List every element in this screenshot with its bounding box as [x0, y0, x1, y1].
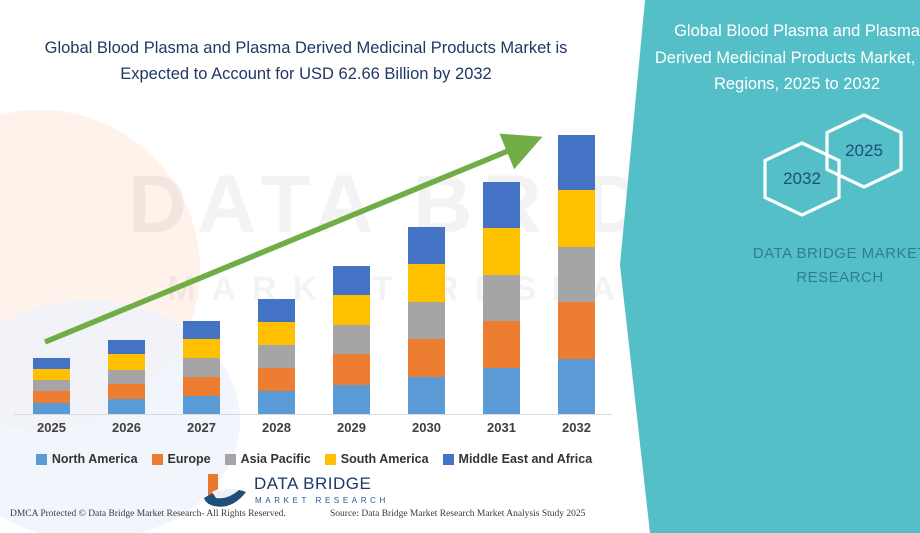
bar-segment — [333, 295, 370, 325]
legend-label: North America — [52, 452, 138, 466]
stacked-bar-2030 — [408, 227, 445, 414]
hexagon-end-year-label: 2032 — [783, 169, 821, 189]
bar-column — [92, 110, 162, 414]
bar-segment — [183, 358, 220, 376]
stacked-bar-2029 — [333, 266, 370, 415]
bar-segment — [183, 339, 220, 358]
stacked-bar-group — [14, 110, 614, 414]
legend-item[interactable]: South America — [325, 452, 429, 466]
legend-label: Europe — [168, 452, 211, 466]
x-axis-label-2028: 2028 — [242, 420, 312, 435]
bar-segment — [558, 302, 595, 359]
bar-segment — [333, 354, 370, 384]
bar-column — [167, 110, 237, 414]
x-axis-line — [14, 414, 612, 415]
bar-segment — [183, 377, 220, 396]
stacked-bar-2025 — [33, 358, 70, 414]
brand-name: DATA BRIDGE MARKET RESEARCH — [740, 242, 920, 290]
bar-segment — [408, 339, 445, 377]
x-axis-label-2032: 2032 — [542, 420, 612, 435]
hexagon-badge-end-year: 2032 — [760, 140, 844, 218]
logo-name: DATA BRIDGE — [254, 474, 371, 494]
legend-swatch-icon — [225, 454, 236, 465]
data-bridge-logo-icon — [198, 468, 250, 518]
bar-segment — [333, 325, 370, 354]
stacked-bar-2028 — [258, 299, 295, 414]
bar-segment — [483, 228, 520, 275]
legend-swatch-icon — [36, 454, 47, 465]
bar-segment — [108, 340, 145, 355]
x-axis-labels: 20252026202720282029203020312032 — [14, 420, 614, 435]
bar-segment — [483, 368, 520, 414]
bar-segment — [258, 322, 295, 346]
legend-swatch-icon — [443, 454, 454, 465]
bar-segment — [333, 266, 370, 295]
chart-panel: Global Blood Plasma and Plasma Derived M… — [0, 0, 640, 533]
bar-segment — [483, 275, 520, 321]
bar-column — [242, 110, 312, 414]
bar-segment — [33, 358, 70, 369]
bar-segment — [408, 377, 445, 414]
bar-segment — [333, 385, 370, 414]
chart-legend: North AmericaEuropeAsia PacificSouth Ame… — [14, 452, 614, 466]
bar-segment — [108, 354, 145, 369]
bar-column — [392, 110, 462, 414]
bar-column — [467, 110, 537, 414]
x-axis-label-2030: 2030 — [392, 420, 462, 435]
bar-segment — [558, 247, 595, 302]
bar-segment — [183, 396, 220, 414]
chart-title: Global Blood Plasma and Plasma Derived M… — [26, 36, 586, 87]
bar-segment — [558, 135, 595, 190]
bar-segment — [108, 384, 145, 399]
hexagon-start-year-label: 2025 — [845, 141, 883, 161]
bar-segment — [258, 368, 295, 392]
bar-segment — [408, 227, 445, 264]
infographic-root: DATA BRIDGE MARKET RESEARCH Global Blood… — [0, 0, 920, 533]
legend-item[interactable]: Asia Pacific — [225, 452, 311, 466]
side-panel-title: Global Blood Plasma and Plasma Derived M… — [652, 18, 920, 98]
legend-item[interactable]: North America — [36, 452, 138, 466]
stacked-bar-2027 — [183, 321, 220, 414]
bar-segment — [558, 190, 595, 247]
bar-segment — [258, 391, 295, 414]
bar-column — [542, 110, 612, 414]
legend-item[interactable]: Europe — [152, 452, 211, 466]
stacked-bar-2032 — [558, 135, 595, 414]
stacked-bar-2026 — [108, 340, 145, 414]
bar-segment — [408, 302, 445, 339]
legend-label: Middle East and Africa — [459, 452, 593, 466]
bar-segment — [258, 345, 295, 368]
bar-column — [317, 110, 387, 414]
bar-segment — [33, 403, 70, 414]
bar-segment — [558, 359, 595, 414]
bar-column — [17, 110, 87, 414]
side-panel: Global Blood Plasma and Plasma Derived M… — [600, 0, 920, 533]
legend-label: Asia Pacific — [241, 452, 311, 466]
x-axis-label-2029: 2029 — [317, 420, 387, 435]
bar-segment — [33, 391, 70, 403]
bar-segment — [33, 380, 70, 391]
legend-swatch-icon — [325, 454, 336, 465]
x-axis-label-2026: 2026 — [92, 420, 162, 435]
legend-label: South America — [341, 452, 429, 466]
logo: DATA BRIDGE MARKET RESEARCH — [198, 468, 358, 520]
bar-segment — [183, 321, 220, 339]
bar-segment — [483, 321, 520, 368]
bar-segment — [108, 370, 145, 385]
bar-segment — [33, 369, 70, 381]
logo-tagline: MARKET RESEARCH — [255, 496, 389, 505]
bar-segment — [483, 182, 520, 228]
bar-segment — [108, 399, 145, 414]
bar-segment — [408, 264, 445, 302]
x-axis-label-2025: 2025 — [17, 420, 87, 435]
legend-swatch-icon — [152, 454, 163, 465]
x-axis-label-2027: 2027 — [167, 420, 237, 435]
legend-item[interactable]: Middle East and Africa — [443, 452, 593, 466]
footer-source: Source: Data Bridge Market Research Mark… — [330, 509, 585, 519]
bar-segment — [258, 299, 295, 322]
x-axis-label-2031: 2031 — [467, 420, 537, 435]
stacked-bar-2031 — [483, 182, 520, 414]
